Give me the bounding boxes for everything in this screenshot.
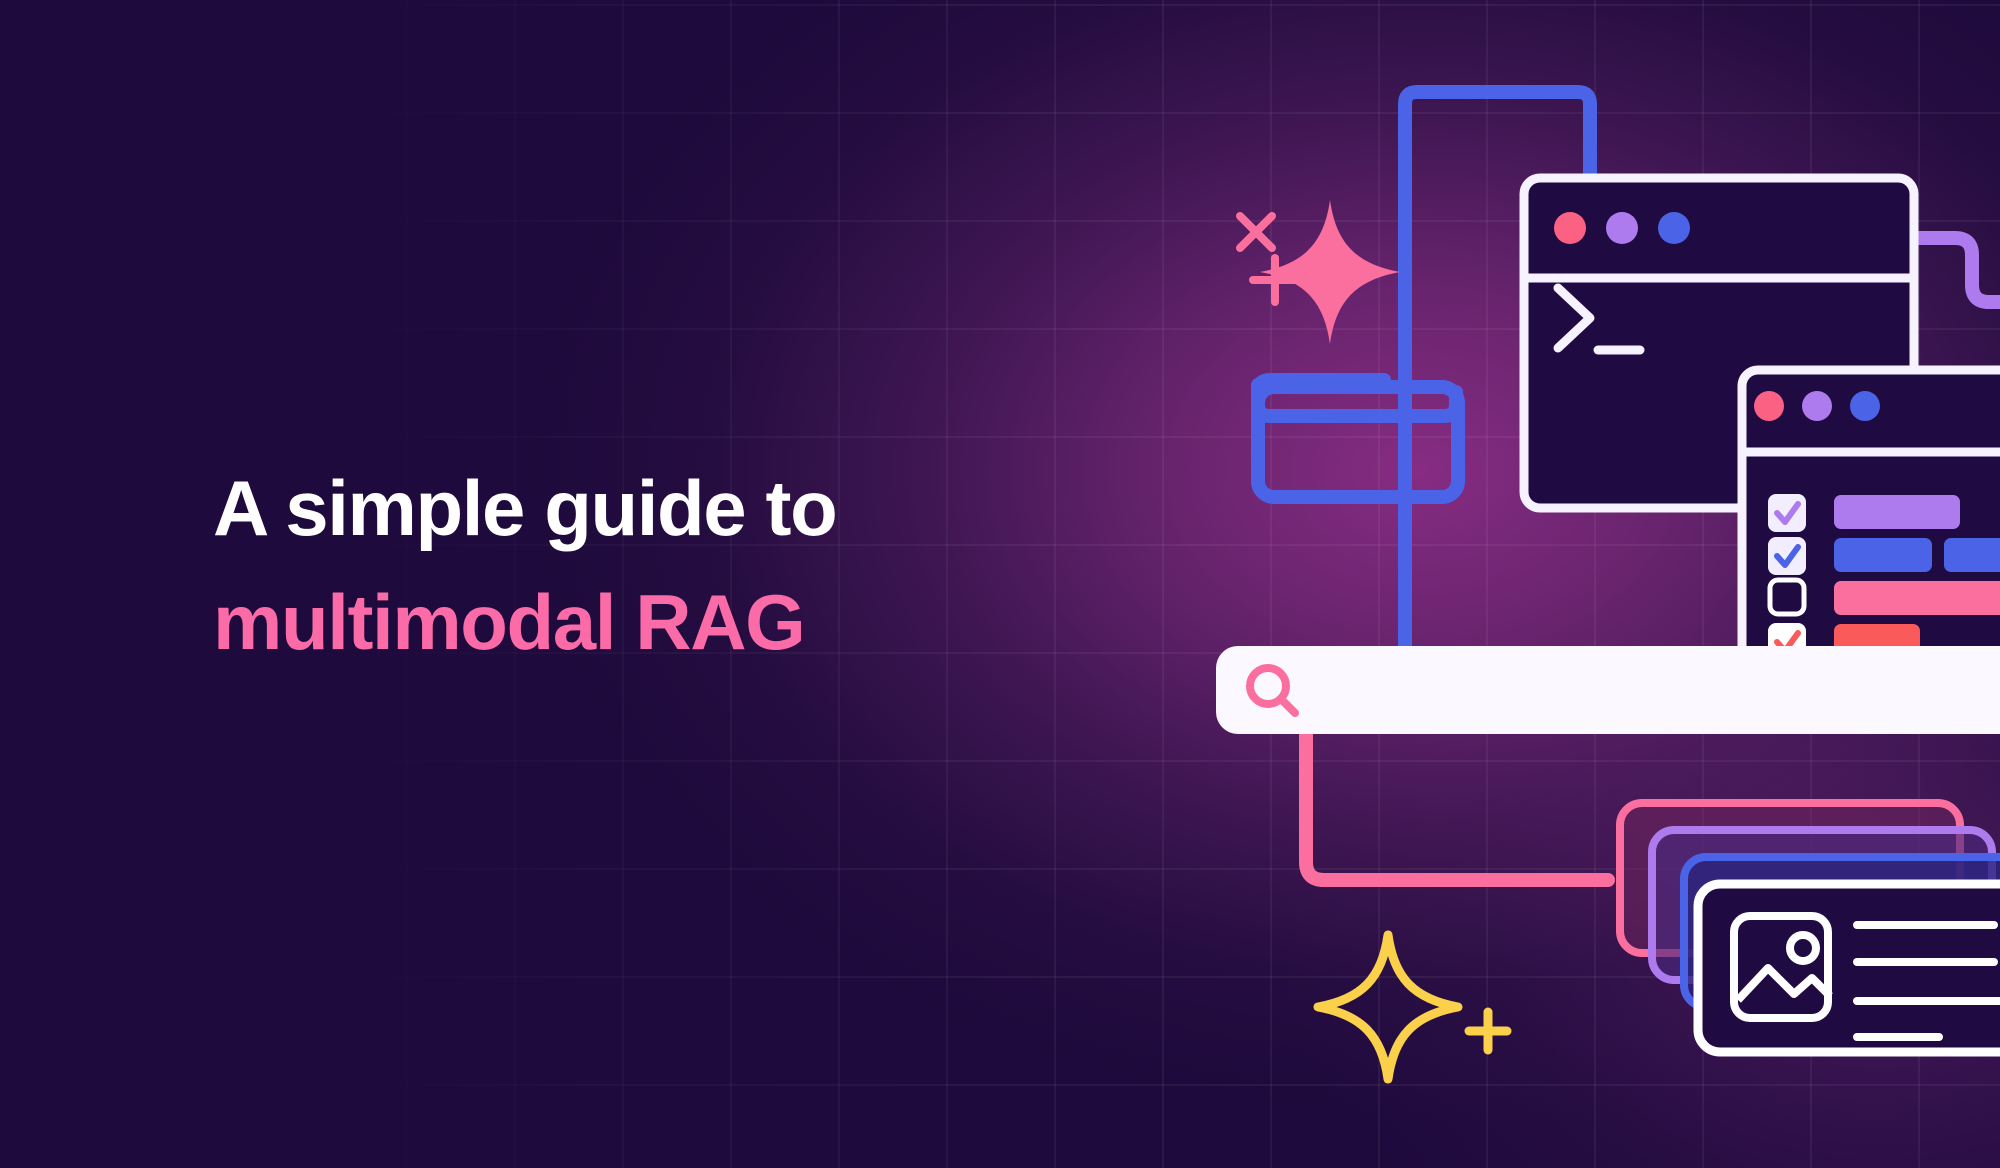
checkbox-checked[interactable] xyxy=(1768,537,1806,575)
terminal-minimize-dot[interactable] xyxy=(1606,212,1638,244)
hero-banner: A simple guide to multimodal RAG xyxy=(0,0,2000,1168)
checklist-row[interactable] xyxy=(1768,537,2000,575)
search-bar[interactable] xyxy=(1216,646,2000,734)
content-bar xyxy=(1834,538,1932,572)
checklist-minimize-dot[interactable] xyxy=(1802,391,1832,421)
search-bar-field[interactable] xyxy=(1216,646,2000,734)
checkbox-checked[interactable] xyxy=(1768,494,1806,532)
checklist-maximize-dot[interactable] xyxy=(1850,391,1880,421)
content-bar xyxy=(1834,581,2000,615)
terminal-close-dot[interactable] xyxy=(1554,212,1586,244)
checklist-row[interactable] xyxy=(1770,580,2000,615)
result-card-stack[interactable] xyxy=(1620,803,2000,1052)
checklist-close-dot[interactable] xyxy=(1754,391,1784,421)
headline-line-2: multimodal RAG xyxy=(213,566,836,680)
terminal-maximize-dot[interactable] xyxy=(1658,212,1690,244)
content-bar xyxy=(1834,495,1960,529)
content-bar xyxy=(1944,538,2000,572)
checkbox-unchecked[interactable] xyxy=(1770,580,1804,614)
headline-line-1: A simple guide to xyxy=(213,452,836,566)
checklist-row[interactable] xyxy=(1768,494,1960,532)
headline-block: A simple guide to multimodal RAG xyxy=(213,452,836,680)
card-front[interactable] xyxy=(1698,884,2000,1052)
checklist-window[interactable] xyxy=(1742,370,2000,682)
